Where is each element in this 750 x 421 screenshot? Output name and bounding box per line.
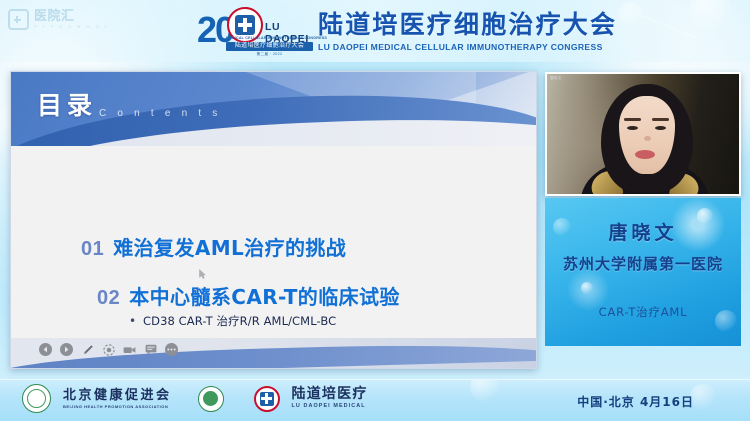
bhpa-seal-inner — [27, 389, 46, 408]
footer-org-beijing-cn: 北京健康促进会 — [63, 389, 172, 402]
speaker-video-panel[interactable]: 唐晓文 — [545, 72, 741, 196]
agenda-section-01: 01 难治复发AML治疗的挑战 — [81, 232, 346, 261]
footer-location-date: 中国·北京 4月16日 — [577, 393, 694, 410]
agenda-number: 01 — [81, 238, 104, 261]
green-seal-inner — [203, 391, 218, 406]
decor-bubble — [715, 310, 737, 332]
watermark-label-en: Y I Y U A N H U I — [34, 25, 109, 30]
watermark-logo: 医院汇 Y I Y U A N H U I — [8, 9, 109, 30]
subtitles-icon[interactable] — [144, 343, 157, 356]
speaker-organization: 苏州大学附属第一医院 — [563, 253, 723, 274]
list-item: • CD38 CAR-T 治疗R/R AML/CML-BC — [129, 313, 345, 329]
video-name-tag: 唐晓文 — [550, 76, 562, 81]
footer-org-ludaopei-cn: 陆道培医疗 — [292, 387, 368, 401]
agenda-label: 难治复发AML治疗的挑战 — [113, 232, 346, 261]
slide-header-graphic: 目录 C o n t e n t s — [11, 72, 536, 146]
banner-title-en: LU DAOPEI MEDICAL CELLULAR IMMUNOTHERAPY… — [318, 42, 617, 52]
conference-banner: 医院汇 Y I Y U A N H U I 20 LU DAOPEI MEDIC… — [0, 0, 750, 62]
pen-icon[interactable] — [81, 343, 94, 356]
slide-title-en: C o n t e n t s — [99, 108, 221, 119]
zoom-slide-icon[interactable] — [123, 343, 136, 356]
more-options-icon[interactable] — [165, 343, 178, 356]
previous-slide-icon[interactable] — [39, 343, 52, 356]
ludaopei-cross-icon — [254, 386, 280, 412]
speaker-eye-left — [627, 126, 638, 130]
speaker-brow-right — [652, 118, 669, 121]
bullet-dot-icon: • — [129, 314, 143, 328]
emblem-chinese-bar: 陆道培医疗细胞治疗大会 — [226, 42, 313, 51]
slide-title: 目录 C o n t e n t s — [37, 86, 222, 122]
congress-emblem: 20 LU DAOPEI MEDICAL CELLULAR IMMUNOTHER… — [197, 6, 315, 58]
page-footer: 北京健康促进会 BEIJING HEALTH PROMOTION ASSOCIA… — [0, 379, 750, 421]
green-association-seal-icon — [198, 386, 224, 412]
emblem-chinese-label: 陆道培医疗细胞治疗大会 — [226, 42, 313, 51]
decor-bubble — [581, 282, 593, 294]
emblem-english-line: MEDICAL CELLULAR IMMUNOTHERAPY CONGRESS — [226, 36, 327, 40]
bhpa-seal-icon — [22, 384, 51, 413]
agenda-number: 02 — [97, 287, 120, 310]
banner-title-cn: 陆道培医疗细胞治疗大会 — [318, 11, 617, 38]
footer-org-ludaopei-en: LU DAOPEI MEDICAL — [292, 404, 368, 409]
slide-title-cn: 目录 — [37, 86, 97, 122]
mouse-cursor-icon — [199, 269, 206, 279]
footer-sponsor-logos: 北京健康促进会 BEIJING HEALTH PROMOTION ASSOCIA… — [22, 384, 368, 413]
speaker-topic: CAR-T治疗AML — [599, 304, 688, 320]
speaker-nose — [644, 136, 651, 141]
speaker-brow-left — [624, 118, 641, 121]
speaker-lips — [635, 150, 655, 159]
next-slide-icon[interactable] — [60, 343, 73, 356]
webcast-stage: 医院汇 Y I Y U A N H U I 20 LU DAOPEI MEDIC… — [0, 0, 750, 421]
emblem-edition-label: 第二届 · 2022 — [226, 52, 313, 57]
presentation-slide[interactable]: 目录 C o n t e n t s 01 难治复发AML治疗的挑战 02 本中… — [10, 71, 537, 369]
medical-cross-icon — [260, 392, 274, 406]
slideshow-controls[interactable] — [39, 343, 178, 356]
agenda-label: 本中心髓系CAR-T的临床试验 — [129, 281, 400, 310]
watermark-label-cn: 医院汇 — [34, 9, 109, 22]
footer-org-ludaopei: 陆道培医疗 LU DAOPEI MEDICAL — [292, 387, 368, 409]
footer-org-beijing: 北京健康促进会 BEIJING HEALTH PROMOTION ASSOCIA… — [63, 389, 172, 409]
footer-org-beijing-en: BEIJING HEALTH PROMOTION ASSOCIATION — [63, 405, 172, 409]
watermark-logo-icon — [8, 9, 29, 30]
speaker-eye-right — [655, 126, 666, 130]
all-slides-icon[interactable] — [102, 343, 115, 356]
list-item-label: CD38 CAR-T 治疗R/R AML/CML-BC — [143, 313, 336, 329]
decor-bubble — [470, 379, 500, 402]
watermark-text: 医院汇 Y I Y U A N H U I — [34, 9, 109, 30]
slideshow-toolbar[interactable] — [11, 338, 536, 368]
speaker-name-plate: 唐晓文 苏州大学附属第一医院 CAR-T治疗AML — [545, 198, 741, 346]
agenda-section-02: 02 本中心髓系CAR-T的临床试验 — [97, 281, 400, 310]
decor-bubble — [697, 208, 713, 224]
banner-title-block: 陆道培医疗细胞治疗大会 LU DAOPEI MEDICAL CELLULAR I… — [318, 11, 617, 52]
speaker-name: 唐晓文 — [608, 218, 677, 245]
decor-bubble — [553, 218, 571, 236]
